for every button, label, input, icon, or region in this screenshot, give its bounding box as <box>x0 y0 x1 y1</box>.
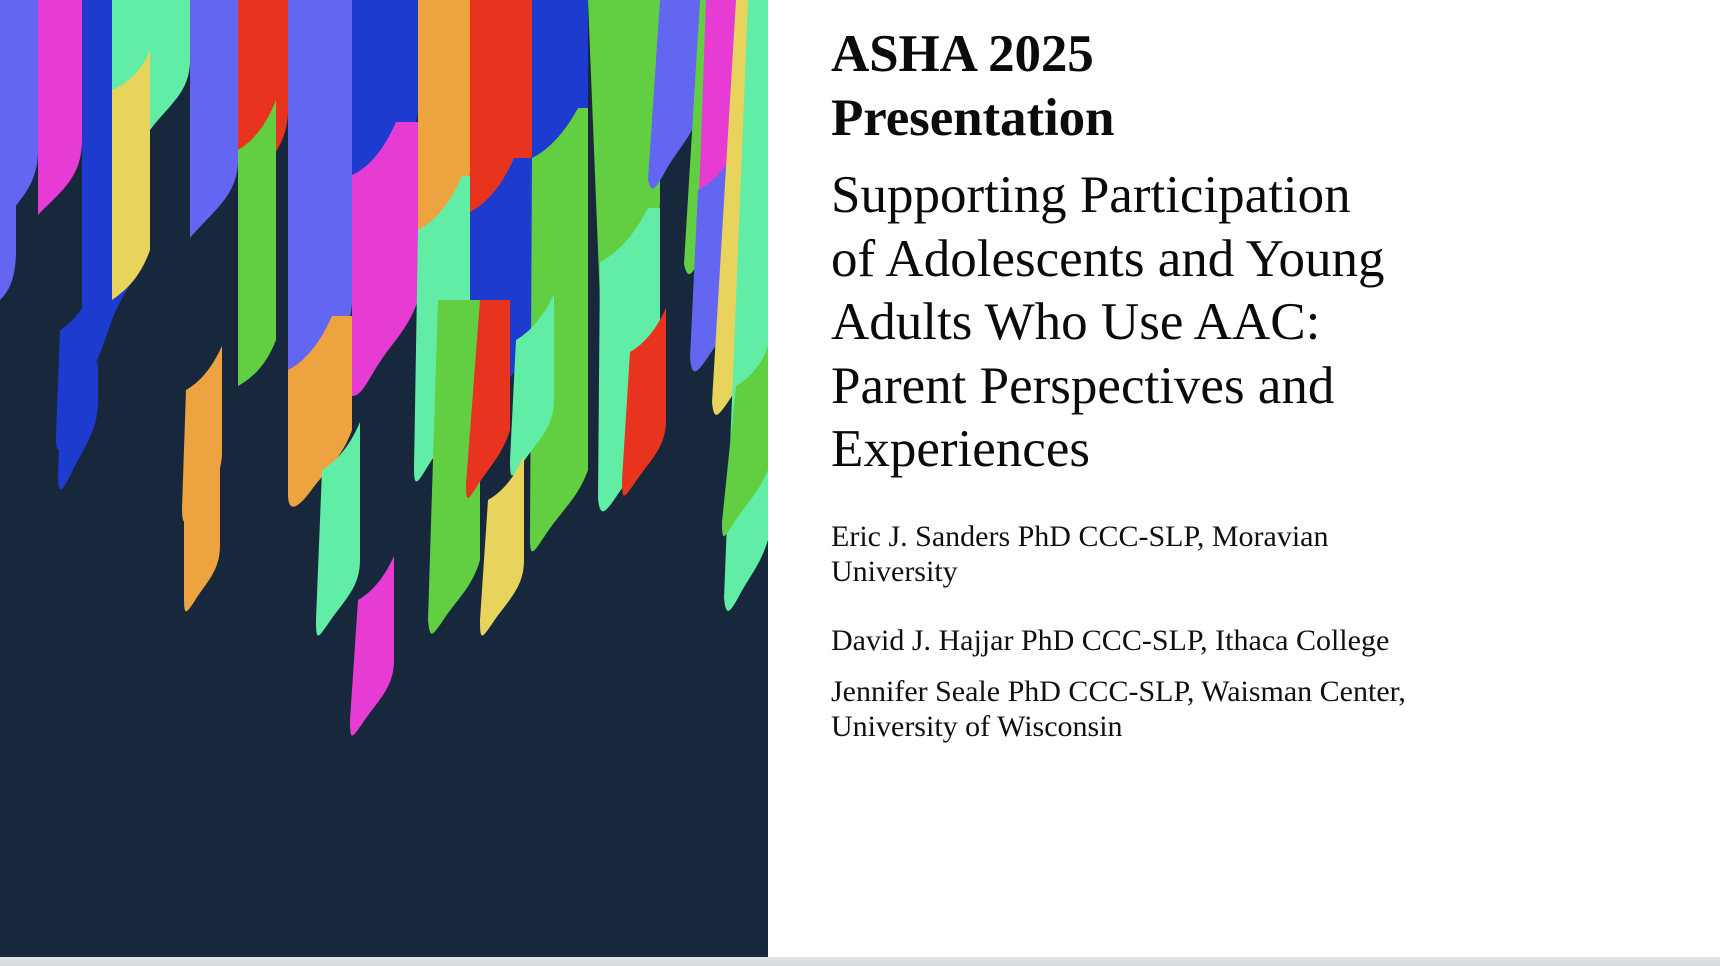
slide-text-column: ASHA 2025 Presentation Supporting Partic… <box>768 0 1720 957</box>
subtitle-line-4: Parent Perspectives and <box>831 355 1551 419</box>
author-list: Eric J. Sanders PhD CCC-SLP, Moravian Un… <box>831 519 1531 744</box>
slide-subtitle: Supporting Participation of Adolescents … <box>831 164 1551 482</box>
slide-title-slide: ASHA 2025 Presentation Supporting Partic… <box>0 0 1720 957</box>
subtitle-line-1: Supporting Participation <box>831 164 1551 228</box>
title-line-2: Presentation <box>831 86 1531 150</box>
subtitle-line-5: Experiences <box>831 418 1551 482</box>
presentation-viewer: ASHA 2025 Presentation Supporting Partic… <box>0 0 1720 966</box>
subtitle-line-2: of Adolescents and Young <box>831 228 1551 292</box>
title-line-1: ASHA 2025 <box>831 22 1531 86</box>
ribbons-svg <box>0 0 768 957</box>
subtitle-line-3: Adults Who Use AAC: <box>831 291 1551 355</box>
author-2: David J. Hajjar PhD CCC-SLP, Ithaca Coll… <box>831 623 1531 658</box>
author-1: Eric J. Sanders PhD CCC-SLP, Moravian Un… <box>831 519 1531 589</box>
ribbons-decoration-image <box>0 0 768 957</box>
slide-title: ASHA 2025 Presentation <box>831 22 1531 150</box>
author-3: Jennifer Seale PhD CCC-SLP, Waisman Cent… <box>831 674 1531 744</box>
